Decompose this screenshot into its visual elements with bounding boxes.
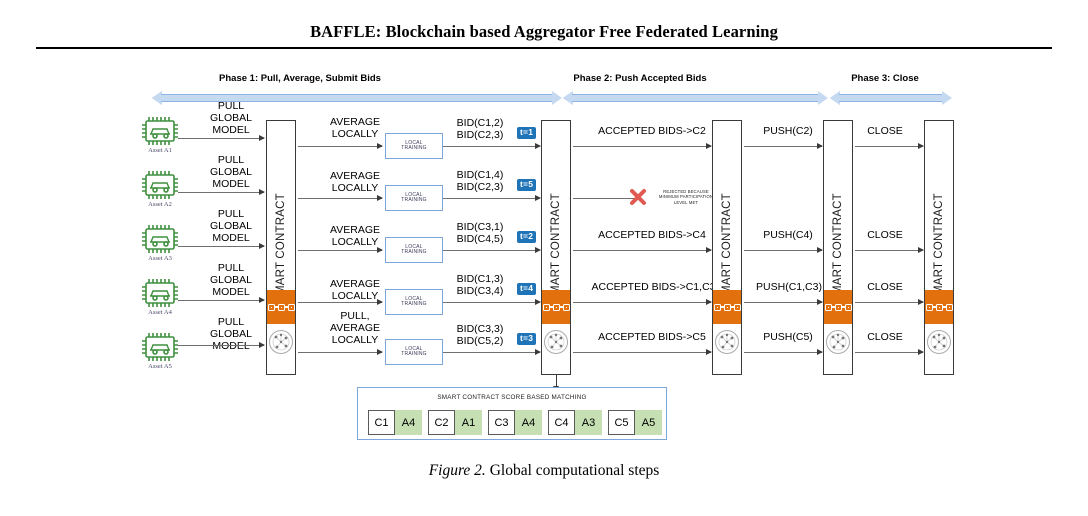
figure-caption: Figure 2. Global computational steps xyxy=(0,462,1088,480)
pull-label-row-4: PULL GLOBAL MODEL xyxy=(192,263,270,298)
match-pair-1[interactable]: C1 A4 xyxy=(368,410,422,435)
bid-line-2: BID(C2,3) xyxy=(440,182,520,194)
figure-global-computational-steps: Phase 1: Pull, Average, Submit Bids Phas… xyxy=(0,60,1088,455)
smart-contract-label: SMART CONTRACT xyxy=(721,193,733,303)
accepted-bids-label-row-1: ACCEPTED BIDS->C2 xyxy=(572,126,732,138)
asset-a1-label: Asset A1 xyxy=(136,147,184,154)
smart-contract-label: SMART CONTRACT xyxy=(275,193,287,303)
flow-sc4-to-sc5-4 xyxy=(855,302,923,303)
figure-caption-text: Global computational steps xyxy=(486,462,659,479)
smart-contract-label: SMART CONTRACT xyxy=(933,193,945,303)
bid-label-row-5: BID(C3,3) BID(C5,2) xyxy=(440,324,520,348)
asset-chip-car-icon xyxy=(139,170,181,200)
header-rule xyxy=(36,47,1052,49)
asset-chip-car-icon xyxy=(139,278,181,308)
flow-training2-to-sc2 xyxy=(443,198,540,199)
accepted-bids-label-row-3: ACCEPTED BIDS->C4 xyxy=(572,230,732,242)
flow-sc2-to-sc3-1 xyxy=(573,146,711,147)
close-label-row-1: CLOSE xyxy=(855,126,915,138)
pull-label-line-1: PULL xyxy=(192,101,270,113)
flow-asset3-to-sc1 xyxy=(178,246,264,247)
match-contract-5: C5 xyxy=(608,410,635,435)
pull-label-line-2: GLOBAL xyxy=(192,329,270,341)
pull-label-line-2: GLOBAL xyxy=(192,113,270,125)
rejected-x-icon xyxy=(629,188,647,206)
bid-line-1: BID(C1,3) xyxy=(440,274,520,286)
bid-line-2: BID(C4,5) xyxy=(440,234,520,246)
flow-training4-to-sc2 xyxy=(443,302,540,303)
local-training-box-4[interactable]: LOCALTRAINING xyxy=(385,289,443,315)
asset-a5-label: Asset A5 xyxy=(136,363,184,370)
match-contract-1: C1 xyxy=(368,410,395,435)
average-label-line-2: AVERAGE xyxy=(312,323,398,335)
network-node-icon xyxy=(926,329,952,355)
local-training-line-2: TRAINING xyxy=(401,249,427,255)
time-badge-row-3: t=2 xyxy=(517,231,536,243)
network-node-icon xyxy=(825,329,851,355)
smart-contract-column-2[interactable]: SMART CONTRACT xyxy=(541,120,571,375)
phase-1-label: Phase 1: Pull, Average, Submit Bids xyxy=(140,73,460,84)
flow-sc4-to-sc5-3 xyxy=(855,250,923,251)
flow-sc2-to-sc3-5 xyxy=(573,352,711,353)
asset-a1: Asset A1 xyxy=(136,116,184,154)
match-panel-connector xyxy=(556,375,557,387)
asset-chip-car-icon xyxy=(139,116,181,146)
flow-sc1-to-training-2 xyxy=(298,198,382,199)
flow-sc2-to-sc3-4 xyxy=(573,302,711,303)
phase-3-arrow-head-right xyxy=(942,91,952,105)
local-training-line-2: TRAINING xyxy=(401,197,427,203)
network-node-icon xyxy=(714,329,740,355)
blockchain-band-icon xyxy=(925,290,953,324)
flow-sc4-to-sc5-5 xyxy=(855,352,923,353)
flow-training5-to-sc2 xyxy=(443,352,540,353)
flow-sc1-to-training-4 xyxy=(298,302,382,303)
local-training-box-5[interactable]: LOCALTRAINING xyxy=(385,339,443,365)
score-matching-title: SMART CONTRACT SCORE BASED MATCHING xyxy=(358,394,666,401)
match-asset-2: A1 xyxy=(455,410,482,435)
asset-a4: Asset A4 xyxy=(136,278,184,316)
bid-line-1: BID(C1,4) xyxy=(440,170,520,182)
network-node-icon xyxy=(543,329,569,355)
local-training-line-2: TRAINING xyxy=(401,351,427,357)
match-contract-3: C3 xyxy=(488,410,515,435)
match-contract-4: C4 xyxy=(548,410,575,435)
flow-sc3-to-sc4-1 xyxy=(744,146,822,147)
close-label-row-4: CLOSE xyxy=(855,282,915,294)
bid-line-2: BID(C5,2) xyxy=(440,336,520,348)
pull-label-row-3: PULL GLOBAL MODEL xyxy=(192,209,270,244)
page-title: BAFFLE: Blockchain based Aggregator Free… xyxy=(0,22,1088,42)
time-badge-row-1: t=1 xyxy=(517,127,536,139)
phase-3-label: Phase 3: Close xyxy=(790,73,980,84)
pull-label-line-1: PULL xyxy=(192,263,270,275)
flow-sc1-to-training-3 xyxy=(298,250,382,251)
flow-sc2-rejected-stub xyxy=(573,198,637,199)
flow-asset2-to-sc1 xyxy=(178,192,264,193)
match-contract-2: C2 xyxy=(428,410,455,435)
time-badge-row-4: t=4 xyxy=(517,283,536,295)
flow-sc2-to-sc3-3 xyxy=(573,250,711,251)
push-label-row-1: PUSH(C2) xyxy=(742,126,834,138)
phase-3-arrow-bar xyxy=(839,94,943,102)
match-pair-2[interactable]: C2 A1 xyxy=(428,410,482,435)
asset-chip-car-icon xyxy=(139,224,181,254)
blockchain-band-icon xyxy=(267,290,295,324)
pull-label-line-2: GLOBAL xyxy=(192,167,270,179)
average-label-line-1: AVERAGE xyxy=(312,225,398,237)
asset-a2: Asset A2 xyxy=(136,170,184,208)
flow-asset4-to-sc1 xyxy=(178,300,264,301)
smart-contract-label: SMART CONTRACT xyxy=(832,193,844,303)
asset-chip-car-icon xyxy=(139,332,181,362)
smart-contract-column-5[interactable]: SMART CONTRACT xyxy=(924,120,954,375)
bid-line-1: BID(C3,3) xyxy=(440,324,520,336)
asset-a5: Asset A5 xyxy=(136,332,184,370)
local-training-line-2: TRAINING xyxy=(401,145,427,151)
flow-training3-to-sc2 xyxy=(443,250,540,251)
flow-sc1-to-training-1 xyxy=(298,146,382,147)
match-pair-3[interactable]: C3 A4 xyxy=(488,410,542,435)
accepted-bids-label-row-5: ACCEPTED BIDS->C5 xyxy=(572,332,732,344)
local-training-box-3[interactable]: LOCALTRAINING xyxy=(385,237,443,263)
local-training-box-2[interactable]: LOCALTRAINING xyxy=(385,185,443,211)
smart-contract-column-4[interactable]: SMART CONTRACT xyxy=(823,120,853,375)
flow-sc1-to-training-5 xyxy=(298,352,382,353)
push-label-row-3: PUSH(C4) xyxy=(742,230,834,242)
average-label-line-1: AVERAGE xyxy=(312,171,398,183)
match-asset-3: A4 xyxy=(515,410,542,435)
pull-label-line-2: GLOBAL xyxy=(192,275,270,287)
close-label-row-5: CLOSE xyxy=(855,332,915,344)
asset-a3: Asset A3 xyxy=(136,224,184,262)
time-badge-row-2: t=5 xyxy=(517,179,536,191)
smart-contract-label: SMART CONTRACT xyxy=(550,193,562,303)
bid-line-2: BID(C2,3) xyxy=(440,130,520,142)
smart-contract-column-1[interactable]: SMART CONTRACT xyxy=(266,120,296,375)
score-matching-row: C1 A4 C2 A1 C3 A4 C4 A3 C5 A5 xyxy=(368,410,662,435)
push-label-row-5: PUSH(C5) xyxy=(742,332,834,344)
pull-label-line-1: PULL xyxy=(192,317,270,329)
close-label-row-3: CLOSE xyxy=(855,230,915,242)
flow-sc3-to-sc4-5 xyxy=(744,352,822,353)
bid-label-row-1: BID(C1,2) BID(C2,3) xyxy=(440,118,520,142)
pull-label-line-1: PULL xyxy=(192,155,270,167)
phase-2-arrow xyxy=(563,91,828,105)
match-asset-1: A4 xyxy=(395,410,422,435)
pull-label-row-1: PULL GLOBAL MODEL xyxy=(192,101,270,136)
flow-sc3-to-sc4-4 xyxy=(744,302,822,303)
score-matching-panel: SMART CONTRACT SCORE BASED MATCHING C1 A… xyxy=(357,387,667,440)
pull-label-line-2: GLOBAL xyxy=(192,221,270,233)
bid-line-2: BID(C3,4) xyxy=(440,286,520,298)
match-pair-5[interactable]: C5 A5 xyxy=(608,410,662,435)
pull-label-row-2: PULL GLOBAL MODEL xyxy=(192,155,270,190)
phase-2-label: Phase 2: Push Accepted Bids xyxy=(490,73,790,84)
match-pair-4[interactable]: C4 A3 xyxy=(548,410,602,435)
flow-sc4-to-sc5-1 xyxy=(855,146,923,147)
flow-training1-to-sc2 xyxy=(443,146,540,147)
time-badge-row-5: t=3 xyxy=(517,333,536,345)
asset-a3-label: Asset A3 xyxy=(136,255,184,262)
blockchain-band-icon xyxy=(542,290,570,324)
bid-line-1: BID(C1,2) xyxy=(440,118,520,130)
blockchain-band-icon xyxy=(713,290,741,324)
network-node-icon xyxy=(268,329,294,355)
blockchain-band-icon xyxy=(824,290,852,324)
local-training-line-2: TRAINING xyxy=(401,301,427,307)
flow-asset5-to-sc1 xyxy=(178,345,264,346)
bid-line-1: BID(C3,1) xyxy=(440,222,520,234)
flow-asset1-to-sc1 xyxy=(178,138,264,139)
smart-contract-column-3[interactable]: SMART CONTRACT xyxy=(712,120,742,375)
bid-label-row-4: BID(C1,3) BID(C3,4) xyxy=(440,274,520,298)
phase-2-arrow-head-right xyxy=(818,91,828,105)
figure-number: Figure 2. xyxy=(429,462,486,479)
asset-a2-label: Asset A2 xyxy=(136,201,184,208)
flow-sc3-to-sc4-3 xyxy=(744,250,822,251)
local-training-box-1[interactable]: LOCALTRAINING xyxy=(385,133,443,159)
match-asset-4: A3 xyxy=(575,410,602,435)
pull-label-line-1: PULL xyxy=(192,209,270,221)
phase-3-arrow xyxy=(830,91,952,105)
match-asset-5: A5 xyxy=(635,410,662,435)
average-label-line-1: AVERAGE xyxy=(312,117,398,129)
asset-a4-label: Asset A4 xyxy=(136,309,184,316)
phase-1-arrow-head-right xyxy=(552,91,562,105)
bid-label-row-3: BID(C3,1) BID(C4,5) xyxy=(440,222,520,246)
phase-2-arrow-bar xyxy=(572,94,819,102)
bid-label-row-2: BID(C1,4) BID(C2,3) xyxy=(440,170,520,194)
